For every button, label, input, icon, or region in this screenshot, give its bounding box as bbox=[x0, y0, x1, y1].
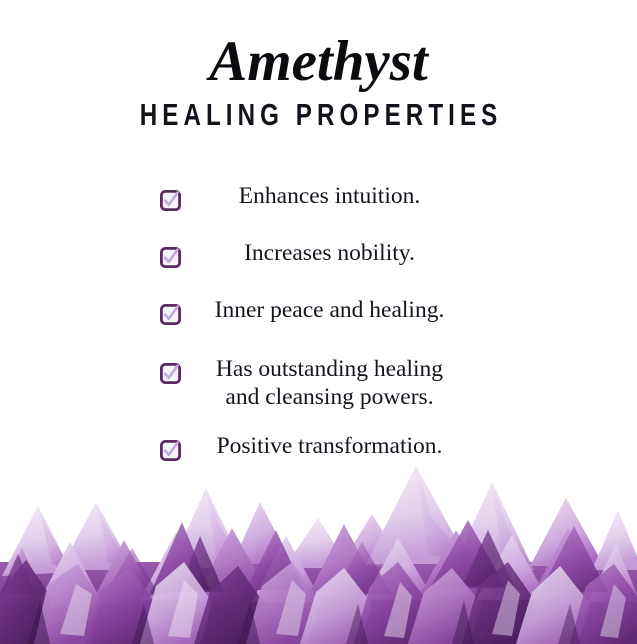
healing-properties-list: Enhances intuition. Increases nobility. … bbox=[0, 182, 637, 462]
checkbox-checked-icon bbox=[160, 363, 181, 384]
list-item: Positive transformation. bbox=[0, 432, 637, 462]
list-item: Inner peace and healing. bbox=[0, 296, 637, 326]
page-title: Amethyst bbox=[0, 32, 637, 92]
list-item-label: Has outstanding healing and cleansing po… bbox=[0, 355, 637, 411]
list-item: Has outstanding healing and cleansing po… bbox=[0, 355, 637, 411]
list-item-label: Inner peace and healing. bbox=[0, 296, 637, 324]
checkbox-checked-icon bbox=[160, 304, 181, 325]
checkbox-checked-icon bbox=[160, 440, 181, 461]
list-item-label: Positive transformation. bbox=[0, 432, 637, 460]
list-item-label: Enhances intuition. bbox=[0, 182, 637, 210]
amethyst-healing-properties-poster: Amethyst HEALING PROPERTIES Enhances int… bbox=[0, 0, 637, 644]
page-subtitle: HEALING PROPERTIES bbox=[70, 98, 567, 132]
checkbox-checked-icon bbox=[160, 247, 181, 268]
list-item: Increases nobility. bbox=[0, 239, 637, 269]
list-item-label: Increases nobility. bbox=[0, 239, 637, 267]
amethyst-crystal-cluster-image bbox=[0, 444, 637, 644]
poster-header: Amethyst HEALING PROPERTIES bbox=[0, 0, 637, 132]
checkbox-checked-icon bbox=[160, 190, 181, 211]
list-item: Enhances intuition. bbox=[0, 182, 637, 212]
